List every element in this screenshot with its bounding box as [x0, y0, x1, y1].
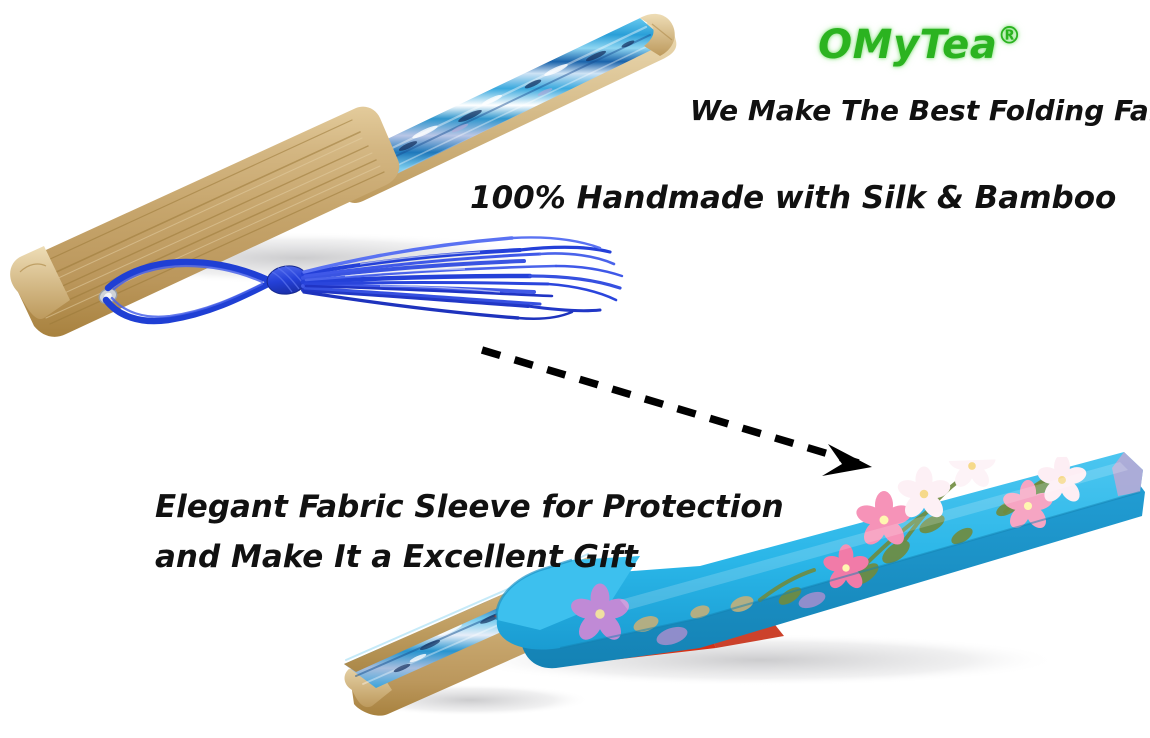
caption-sleeve-line1: Elegant Fabric Sleeve for Protection: [155, 482, 784, 532]
dashed-arrow: [482, 350, 872, 476]
brand-name: OMyTea: [818, 22, 997, 68]
brand-tagline: We Make The Best Folding Fans: [690, 94, 1150, 127]
closed-fan-top: [10, 14, 676, 337]
product-marketing-image: OMyTea® We Make The Best Folding Fans 10…: [0, 0, 1150, 738]
arrow-head: [822, 444, 872, 476]
brand-logo: OMyTea®: [690, 22, 1150, 68]
caption-sleeve: Elegant Fabric Sleeve for Protection and…: [155, 482, 784, 582]
caption-handmade: 100% Handmade with Silk & Bamboo: [470, 180, 1116, 216]
registered-trademark-icon: ®: [997, 22, 1022, 50]
caption-sleeve-line2: and Make It a Excellent Gift: [155, 532, 784, 582]
